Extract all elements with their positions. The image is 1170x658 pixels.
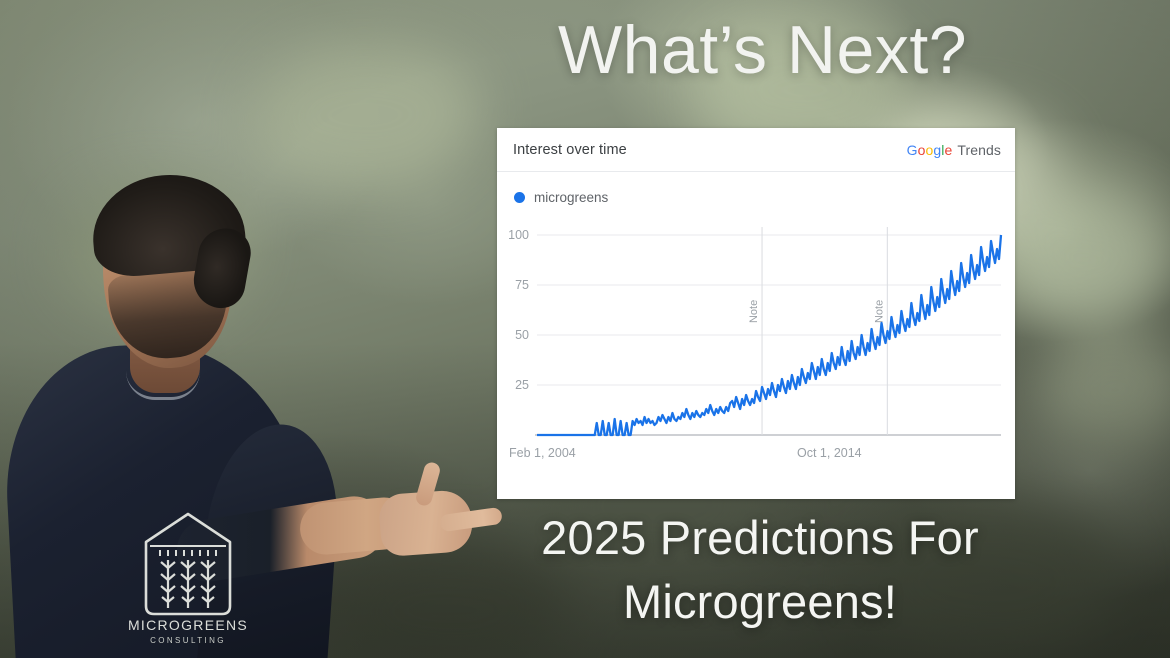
card-title: Interest over time [513, 142, 627, 158]
card-header: Interest over time GoogleTrends [497, 128, 1015, 172]
svg-text:Note: Note [873, 300, 885, 323]
chart-plot-area[interactable]: 255075100NoteNoteFeb 1, 2004Oct 1, 2014 [497, 223, 1015, 473]
shirt-logo-line2: CONSULTING [150, 636, 226, 645]
chart-legend[interactable]: microgreens [497, 172, 1015, 205]
thumbnail-canvas: MICROGREENS CONSULTING What’s Next? Inte… [0, 0, 1170, 658]
svg-text:50: 50 [515, 328, 529, 342]
svg-text:Note: Note [748, 300, 760, 323]
subtitle-line-1: 2025 Predictions For [470, 506, 1050, 570]
svg-text:Oct 1, 2014: Oct 1, 2014 [797, 446, 862, 460]
legend-item-label: microgreens [534, 190, 608, 205]
svg-text:Feb 1, 2004: Feb 1, 2004 [509, 446, 576, 460]
svg-text:25: 25 [515, 378, 529, 392]
page-title: What’s Next? [490, 16, 1035, 84]
svg-text:75: 75 [515, 278, 529, 292]
presenter-figure: MICROGREENS CONSULTING [0, 58, 470, 658]
shirt-logo-line1: MICROGREENS [128, 617, 248, 633]
google-trends-logo: GoogleTrends [907, 142, 1001, 158]
legend-dot-icon [514, 192, 525, 203]
page-subtitle: 2025 Predictions For Microgreens! [470, 506, 1050, 634]
svg-text:100: 100 [508, 228, 529, 242]
greenhouse-plants-icon: MICROGREENS CONSULTING [128, 498, 248, 648]
subtitle-line-2: Microgreens! [470, 570, 1050, 634]
google-trends-card: Interest over time GoogleTrends microgre… [497, 128, 1015, 499]
